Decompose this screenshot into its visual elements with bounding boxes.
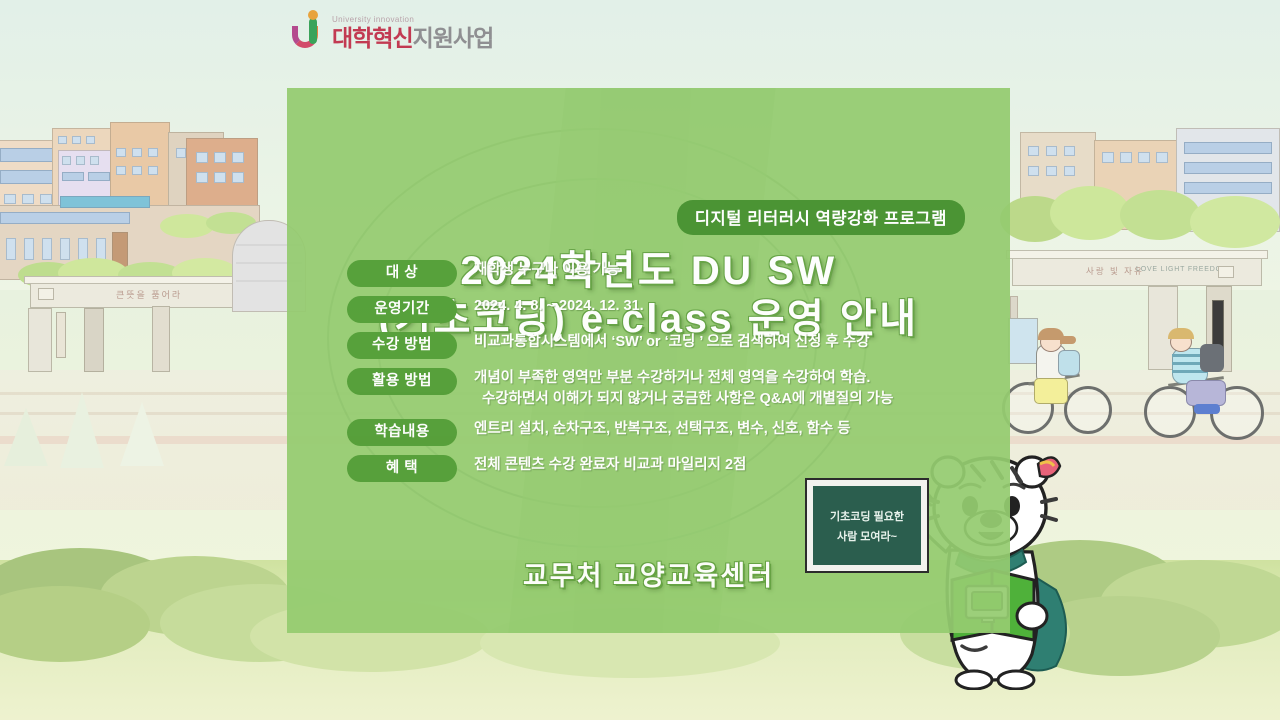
program-badge: 디지털 리터러시 역량강화 프로그램 — [677, 200, 965, 235]
cyclist-left — [1020, 330, 1140, 440]
info-value-line1: 개념이 부족한 영역만 부분 수강하거나 전체 영역을 수강하여 학습. — [474, 370, 870, 386]
info-row: 대 상 재학생 누구나 이용 가능 — [347, 260, 987, 287]
info-value-line1: 2024. 4. 8. ~ 2024. 12. 31. — [474, 298, 644, 314]
university-innovation-logo: University innovation 대학혁신지원사업 — [292, 14, 493, 50]
info-label-target: 대 상 — [347, 260, 457, 287]
info-label-benefit: 혜 택 — [347, 455, 457, 482]
blackboard-line2: 사람 모여라~ — [837, 528, 897, 544]
gate-inscription-right-eng: LOVE LIGHT FREEDOM — [1136, 266, 1228, 273]
cyclist-right — [1150, 330, 1280, 445]
info-rows: 대 상 재학생 누구나 이용 가능 운영기간 2024. 4. 8. ~ 202… — [347, 260, 987, 491]
gate-inscription-left: 큰뜻을 품어라 — [116, 288, 182, 301]
conifer-tree — [120, 402, 164, 466]
info-label-enrollment-method: 수강 방법 — [347, 332, 457, 359]
info-row: 학습내용 엔트리 설치, 순차구조, 반복구조, 선택구조, 변수, 신호, 함… — [347, 419, 987, 446]
info-label-usage-method: 활용 방법 — [347, 368, 457, 395]
info-value-target: 재학생 누구나 이용 가능 — [474, 260, 987, 281]
logo-korean-text: 대학혁신지원사업 — [332, 27, 493, 50]
info-value-line1: 엔트리 설치, 순차구조, 반복구조, 선택구조, 변수, 신호, 함수 등 — [474, 421, 851, 437]
conifer-tree — [60, 392, 104, 468]
logo-english-text: University innovation — [332, 16, 493, 24]
blackboard-slate: 기초코딩 필요한 사람 모여라~ — [813, 486, 921, 565]
info-row: 활용 방법 개념이 부족한 영역만 부분 수강하거나 전체 영역을 수강하여 학… — [347, 368, 987, 410]
blackboard-line1: 기초코딩 필요한 — [830, 508, 904, 524]
info-value-line2: 수강하면서 이해가 되지 않거나 궁금한 사항은 Q&A에 개별질의 가능 — [474, 389, 987, 410]
info-value-line1: 재학생 누구나 이용 가능 — [474, 262, 620, 278]
info-row: 수강 방법 비교과통합시스템에서 ‘SW’ or ‘코딩 ’ 으로 검색하여 신… — [347, 332, 987, 359]
info-value-usage-method: 개념이 부족한 영역만 부분 수강하거나 전체 영역을 수강하여 학습. 수강하… — [474, 368, 987, 410]
info-value-enrollment-method: 비교과통합시스템에서 ‘SW’ or ‘코딩 ’ 으로 검색하여 신청 후 수강 — [474, 332, 987, 353]
blackboard: 기초코딩 필요한 사람 모여라~ — [805, 478, 929, 573]
info-label-period: 운영기간 — [347, 296, 457, 323]
info-label-curriculum: 학습내용 — [347, 419, 457, 446]
gate-side-plate — [56, 312, 66, 358]
info-value-line1: 비교과통합시스템에서 ‘SW’ or ‘코딩 ’ 으로 검색하여 신청 후 수강 — [474, 334, 869, 350]
conifer-tree — [4, 408, 48, 466]
info-value-period: 2024. 4. 8. ~ 2024. 12. 31. — [474, 296, 987, 317]
info-value-benefit: 전체 콘텐츠 수강 완료자 비교과 마일리지 2점 — [474, 455, 987, 476]
logo-korean-primary: 대학혁신 — [332, 25, 413, 51]
logo-korean-secondary: 지원사업 — [413, 25, 494, 51]
info-row: 운영기간 2024. 4. 8. ~ 2024. 12. 31. — [347, 296, 987, 323]
uj-monogram-icon — [292, 14, 326, 50]
info-value-line1: 전체 콘텐츠 수강 완료자 비교과 마일리지 2점 — [474, 457, 746, 473]
info-value-curriculum: 엔트리 설치, 순차구조, 반복구조, 선택구조, 변수, 신호, 함수 등 — [474, 419, 987, 440]
